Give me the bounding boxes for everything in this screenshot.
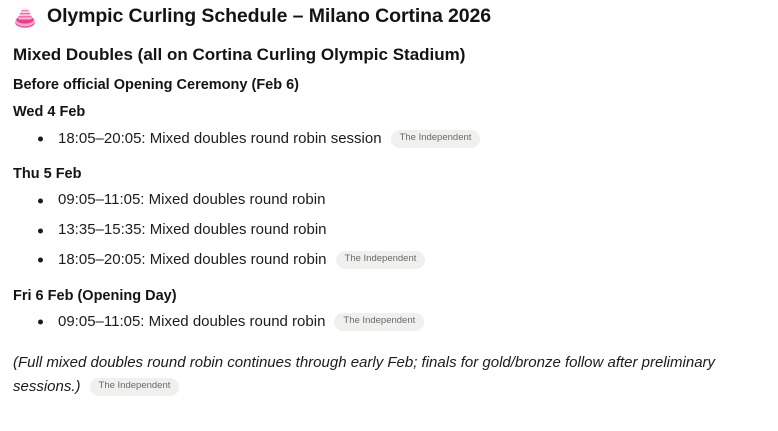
session-list: 18:05–20:05: Mixed doubles round robin s… — [12, 130, 766, 149]
session-text: 13:35–15:35: Mixed doubles round robin — [58, 221, 327, 240]
session-item: 18:05–20:05: Mixed doubles round robin s… — [12, 130, 766, 149]
schedule-page: Olympic Curling Schedule – Milano Cortin… — [0, 0, 778, 399]
citation-badge[interactable]: The Independent — [391, 130, 481, 148]
session-item: 09:05–11:05: Mixed doubles round robinTh… — [12, 313, 766, 332]
session-text: 18:05–20:05: Mixed doubles round robin s… — [58, 130, 382, 149]
session-text: 09:05–11:05: Mixed doubles round robin — [58, 313, 325, 332]
day-group: Wed 4 Feb18:05–20:05: Mixed doubles roun… — [12, 103, 766, 148]
day-heading: Fri 6 Feb (Opening Day) — [13, 287, 766, 305]
session-text: 18:05–20:05: Mixed doubles round robin — [58, 251, 327, 270]
session-item: 18:05–20:05: Mixed doubles round robinTh… — [12, 251, 766, 270]
curling-stone-icon — [12, 4, 38, 30]
session-text: 09:05–11:05: Mixed doubles round robin — [58, 191, 325, 210]
session-item: 13:35–15:35: Mixed doubles round robin — [12, 221, 766, 240]
citation-badge[interactable]: The Independent — [336, 251, 426, 269]
session-list: 09:05–11:05: Mixed doubles round robinTh… — [12, 313, 766, 332]
page-header: Olympic Curling Schedule – Milano Cortin… — [12, 0, 766, 30]
citation-badge[interactable]: The Independent — [90, 378, 180, 396]
session-item: 09:05–11:05: Mixed doubles round robin — [12, 191, 766, 210]
day-heading: Thu 5 Feb — [13, 165, 766, 183]
day-heading: Wed 4 Feb — [13, 103, 766, 121]
sub-heading: Before official Opening Ceremony (Feb 6) — [13, 76, 766, 94]
session-list: 09:05–11:05: Mixed doubles round robin13… — [12, 191, 766, 269]
days-container: Wed 4 Feb18:05–20:05: Mixed doubles roun… — [12, 103, 766, 331]
day-group: Thu 5 Feb09:05–11:05: Mixed doubles roun… — [12, 165, 766, 269]
page-title: Olympic Curling Schedule – Milano Cortin… — [47, 5, 491, 28]
section-heading: Mixed Doubles (all on Cortina Curling Ol… — [13, 44, 766, 65]
day-group: Fri 6 Feb (Opening Day)09:05–11:05: Mixe… — [12, 287, 766, 332]
closing-note: (Full mixed doubles round robin continue… — [13, 351, 766, 400]
citation-badge[interactable]: The Independent — [334, 313, 424, 331]
